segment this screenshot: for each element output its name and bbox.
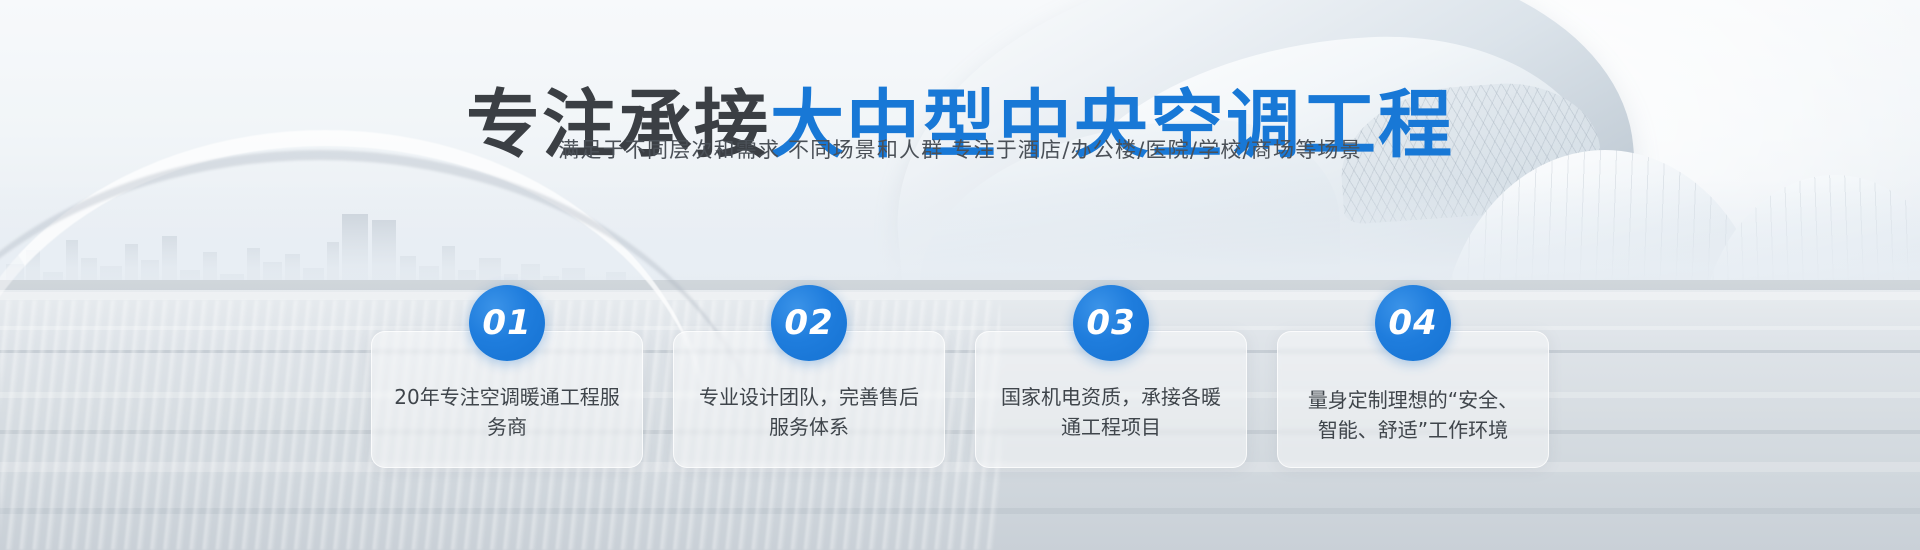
card-number-badge: 02 (771, 285, 847, 361)
feature-card[interactable]: 03 国家机电资质，承接各暖通工程项目 (975, 331, 1247, 468)
hero-banner: 专注承接大中型中央空调工程 满足于不同层次和需求 不同场景和人群 专注于酒店/办… (0, 0, 1920, 550)
card-description: 量身定制理想的“安全、智能、舒适”工作环境 (1278, 385, 1548, 445)
page-subtitle: 满足于不同层次和需求 不同场景和人群 专注于酒店/办公楼/医院/学校/商场等场景 (0, 134, 1920, 164)
card-description: 国家机电资质，承接各暖通工程项目 (976, 382, 1246, 442)
card-description: 专业设计团队，完善售后服务体系 (674, 382, 944, 442)
card-number-badge: 01 (469, 285, 545, 361)
feature-card-list: 01 20年专注空调暖通工程服务商 02 专业设计团队，完善售后服务体系 03 … (0, 284, 1920, 494)
card-number-badge: 03 (1073, 285, 1149, 361)
feature-card[interactable]: 01 20年专注空调暖通工程服务商 (371, 331, 643, 468)
card-description: 20年专注空调暖通工程服务商 (372, 382, 642, 442)
card-number-badge: 04 (1375, 285, 1451, 361)
feature-card[interactable]: 02 专业设计团队，完善售后服务体系 (673, 331, 945, 468)
feature-card[interactable]: 04 量身定制理想的“安全、智能、舒适”工作环境 (1277, 331, 1549, 468)
